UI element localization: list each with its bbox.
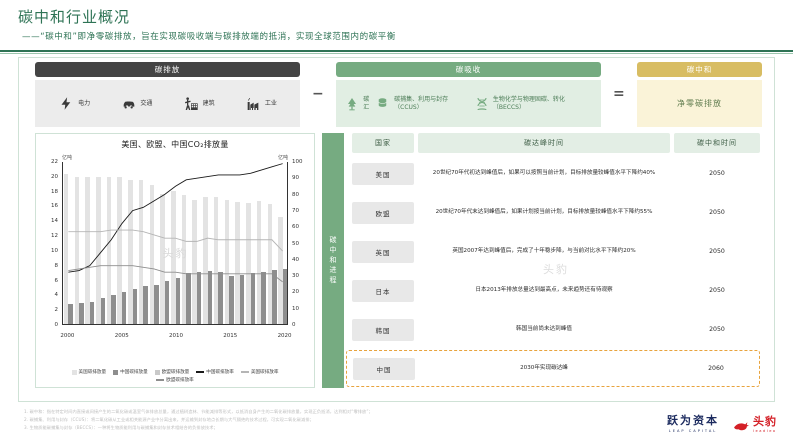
factory-icon [245,95,262,112]
y-tick: 4 [40,292,58,298]
x-tick: 2005 [115,333,129,339]
y-tick: 0 [40,322,58,328]
row-peak-description: 英国2007年达到峰值后，完成了十年稳步降，与当前对比水平下降约20% [418,247,670,256]
leopard-icon [733,417,750,429]
legend-swatch [156,379,164,381]
emission-label-building: 建筑 [203,100,215,108]
absorption-label-beccs: 生物化学与物理固碳、转化（BECCS） [493,96,593,111]
emission-item-transport: 交通 [120,95,152,112]
row-neutral-year: 2050 [674,248,760,255]
panel-emission-title: 碳排放 [35,62,300,77]
column-header-neutral-time: 碳中和时间 [674,133,760,153]
y-tick: 16 [40,203,58,209]
footnotes: 1. 碳中和：指在特定时间内直接或间接产生的二氧化碳或温室气体排放总量，通过植树… [24,408,624,431]
table-row[interactable]: 欧盟20世纪70年代末达到峰值后，如果计划按当前计划，目标排放量较峰值水平下降约… [352,194,760,231]
emission-label-power: 电力 [78,100,90,108]
line-series [68,164,282,273]
database-icon [375,95,391,112]
progress-table-body: 美国20世纪70年代初达到峰值后，如果可以按照当前计划，目标排放量较峰值水平下降… [352,155,760,387]
panel-emission: 碳排放 电力 交通 [35,62,300,127]
legend-swatch [113,370,118,375]
logo-leadleo-cn: 头豹 [753,413,777,429]
y2-tick: 50 [292,241,310,247]
absorption-item-ccus: 碳捕集、利用与封存（CCUS） [375,95,474,112]
legend-label: 中国碳排放量 [120,369,148,375]
progress-table: 国家 碳达峰时间 碳中和时间 美国20世纪70年代初达到峰值后，如果可以按照当前… [352,133,760,387]
row-country: 中国 [353,358,415,380]
x-tick: 2015 [223,333,237,339]
table-watermark: 头豹 [543,261,569,277]
y-tick: 20 [40,174,58,180]
legend-swatch [72,370,77,375]
column-header-peak-time: 碳达峰时间 [418,133,670,153]
row-peak-description: 20世纪70年代初达到峰值后，如果可以按照当前计划，目标排放量较峰值水平下降约4… [418,169,670,178]
y-tick: 12 [40,233,58,239]
operator-equals: = [613,86,625,102]
emission-item-industry: 工业 [245,95,277,112]
y-axis-unit: 亿吨 [62,154,72,161]
emission-label-transport: 交通 [140,100,152,108]
page-subtitle: ——“碳中和”即净零碳排放，旨在实现碳吸收端与碳排放端的抵消，实现全球范围内的碳… [22,30,396,42]
legend-swatch [196,371,204,373]
column-header-country: 国家 [352,133,414,153]
row-country: 英国 [352,241,414,263]
panel-neutrality: 碳中和 净零碳排放 [637,62,762,127]
legend-item: 中国碳排放量 [113,369,148,375]
chart-title: 美国、欧盟、中国CO₂排放量 [36,139,314,150]
y-tick: 18 [40,189,58,195]
y2-tick: 10 [292,306,310,312]
logo-leadleo-en: leadleo [753,429,777,433]
construction-icon [183,95,200,112]
y2-tick: 70 [292,208,310,214]
emission-item-power: 电力 [58,95,90,112]
table-row[interactable]: 日本日本2013年排放总量达到最高点，未来趋势还有待观察2050头豹 [352,272,760,309]
panel-absorption-title: 碳吸收 [336,62,601,77]
line-series [68,266,282,282]
panel-emission-body: 电力 交通 [35,80,300,127]
row-peak-description: 日本2013年排放总量达到最高点，未来趋势还有待观察 [418,286,670,295]
dna-icon [474,95,490,112]
y-tick: 14 [40,218,58,224]
row-country: 韩国 [352,319,414,341]
x-tick: 2010 [169,333,183,339]
absorption-label-ccus: 碳捕集、利用与封存（CCUS） [394,96,473,111]
footnote: 1. 碳中和：指在特定时间内直接或间接产生的二氧化碳或温室气体排放总量，通过植树… [24,408,624,416]
chart-card: 美国、欧盟、中国CO₂排放量 亿吨 亿吨 2220181614121086420… [35,133,315,388]
lightning-icon [58,95,75,112]
legend-label: 美国碳排放量 [79,369,107,375]
row-peak-description: 20世纪70年代末达到峰值后，如果计划按当前计划，目标排放量较峰值水平下降约55… [418,208,670,217]
absorption-label-sink: 碳汇 [363,96,375,111]
y-tick: 8 [40,263,58,269]
legend-item: 中国碳排放率 [196,369,234,375]
header-divider-light [0,53,793,54]
tree-icon [344,95,360,112]
row-neutral-year: 2060 [673,365,759,372]
logo-leap-capital: 跃为资本 LEAP CAPITAL [667,412,719,433]
y-tick: 2 [40,307,58,313]
line-series-svg [63,162,288,324]
legend-item: 美国碳排放率 [241,369,279,375]
table-row[interactable]: 美国20世纪70年代初达到峰值后，如果可以按照当前计划，目标排放量较峰值水平下降… [352,155,760,192]
content-frame: 碳排放 电力 交通 [18,57,775,402]
row-country: 日本 [352,280,414,302]
legend-label: 中国碳排放率 [206,369,234,375]
y2-tick: 20 [292,289,310,295]
logo-leap-cn: 跃为资本 [667,412,719,428]
slide-root: 碳中和行业概况 ——“碳中和”即净零碳排放，旨在实现碳吸收端与碳排放端的抵消，实… [0,0,793,446]
y2-tick: 90 [292,175,310,181]
line-series [68,230,282,251]
page-title: 碳中和行业概况 [18,6,130,27]
logo-leadleo-text: 头豹 leadleo [753,413,777,433]
panel-absorption-body: 碳汇 碳捕集、利用与封存（CCUS） [336,80,601,127]
row-neutral-year: 2050 [674,326,760,333]
panel-neutrality-value: 净零碳排放 [677,98,722,109]
y2-tick: 30 [292,273,310,279]
legend-label: 欧盟碳排放率 [166,377,194,383]
absorption-item-sink: 碳汇 [344,95,375,112]
panel-absorption: 碳吸收 碳汇 [336,62,601,127]
y2-tick: 40 [292,257,310,263]
row-neutral-year: 2050 [674,170,760,177]
legend-label: 欧盟碳排放量 [162,369,190,375]
chart-plot: 亿吨 亿吨 2220181614121086420 10090807060504… [40,154,310,339]
progress-table-header: 国家 碳达峰时间 碳中和时间 [352,133,760,153]
y2-axis-unit: 亿吨 [278,154,288,161]
y2-tick: 60 [292,224,310,230]
x-tick: 2020 [278,333,292,339]
legend-item: 欧盟碳排放量 [155,369,190,375]
legend-item: 欧盟碳排放率 [156,377,194,383]
panel-neutrality-body: 净零碳排放 [637,80,762,127]
y-tick: 6 [40,278,58,284]
table-row[interactable]: 中国2030年实现碳达峰2060 [346,350,760,387]
legend-swatch [241,371,249,373]
legend-item: 美国碳排放量 [72,369,107,375]
footnote: 2. 碳捕集、利用与封存（CCUS）：将二氧化碳从工业或相关能源产业中分离出来，… [24,416,624,424]
row-neutral-year: 2050 [674,209,760,216]
row-neutral-year: 2050 [674,287,760,294]
y2-tick: 100 [292,159,310,165]
progress-vertical-label: 碳中和进程 [322,133,344,388]
legend-label: 美国碳排放率 [251,369,279,375]
logo-bar: 跃为资本 LEAP CAPITAL 头豹 leadleo [667,412,777,433]
plot-area: 头豹 [62,162,288,325]
row-country: 美国 [352,163,414,185]
emission-label-industry: 工业 [265,100,277,108]
y-tick: 10 [40,248,58,254]
x-tick: 2000 [60,333,74,339]
progress-vertical-label-text: 碳中和进程 [328,236,338,286]
row-country: 欧盟 [352,202,414,224]
legend-swatch [155,370,160,375]
absorption-item-beccs: 生物化学与物理固碳、转化（BECCS） [474,95,593,112]
table-row[interactable]: 韩国韩国当前尚未达到峰值2050 [352,311,760,348]
emission-item-building: 建筑 [183,95,215,112]
logo-leadleo: 头豹 leadleo [733,413,777,433]
operator-minus: − [312,86,324,102]
y2-tick: 80 [292,192,310,198]
row-peak-description: 韩国当前尚未达到峰值 [418,325,670,334]
row-peak-description: 2030年实现碳达峰 [419,364,669,373]
footnote: 3. 生物质能碳捕集与封存（BECCS）：一种将生物质能利用与碳捕集和封存技术相… [24,424,624,432]
logo-leap-en: LEAP CAPITAL [669,429,718,433]
y2-tick: 0 [292,322,310,328]
y-tick: 22 [40,159,58,165]
panel-neutrality-title: 碳中和 [637,62,762,77]
car-icon [120,95,137,112]
chart-legend: 美国碳排放量中国碳排放量欧盟碳排放量中国碳排放率美国碳排放率欧盟碳排放率 [36,369,314,383]
